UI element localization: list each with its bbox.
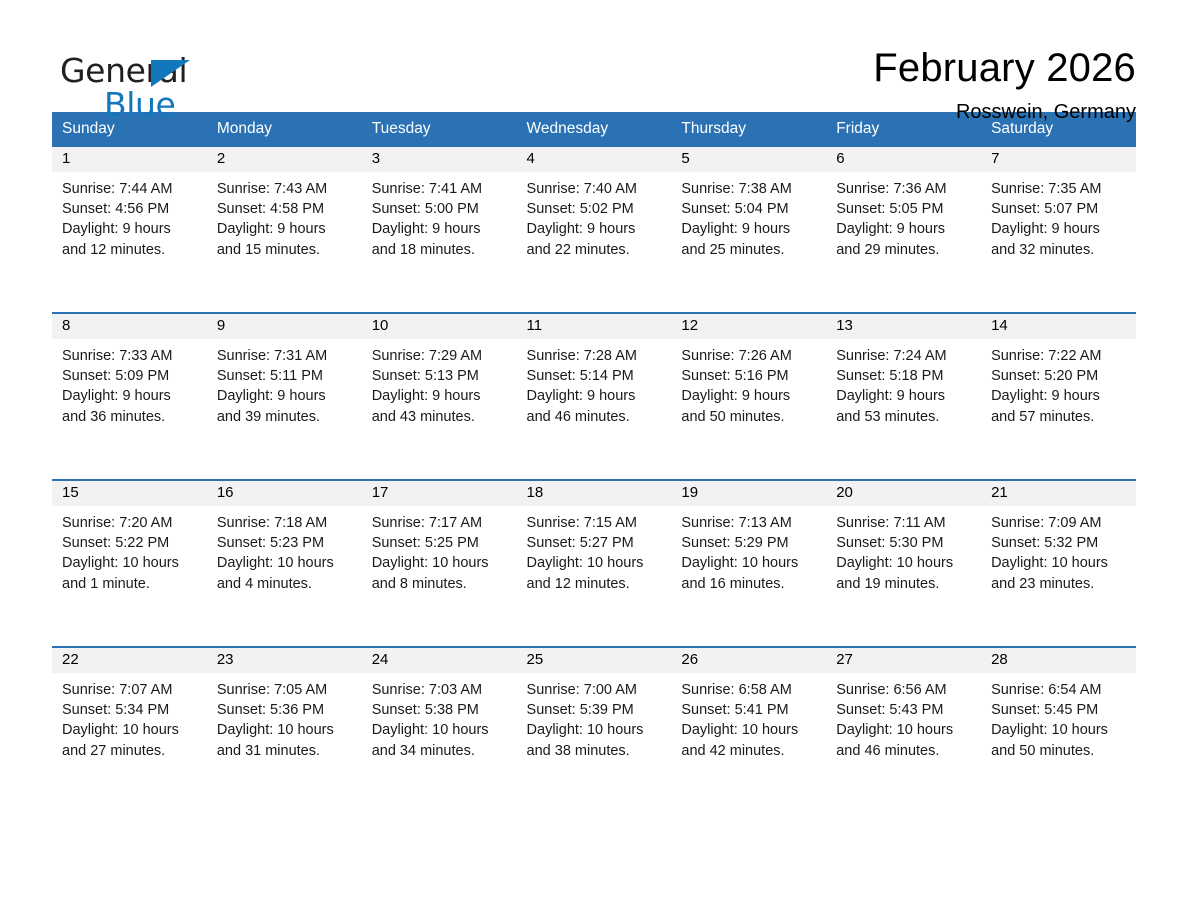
day-number: 4 bbox=[527, 150, 535, 167]
daylight-text-line1: Daylight: 9 hours bbox=[836, 219, 969, 239]
sunrise-text: Sunrise: 7:44 AM bbox=[62, 179, 195, 199]
daylight-text-line2: and 16 minutes. bbox=[681, 574, 814, 594]
page-title: February 2026 bbox=[873, 46, 1136, 91]
daylight-text-line2: and 50 minutes. bbox=[991, 741, 1124, 761]
sunrise-text: Sunrise: 7:29 AM bbox=[372, 346, 505, 366]
day-number: 14 bbox=[991, 317, 1008, 334]
daylight-text-line2: and 8 minutes. bbox=[372, 574, 505, 594]
sunset-text: Sunset: 5:43 PM bbox=[836, 700, 969, 720]
sunrise-text: Sunrise: 7:13 AM bbox=[681, 513, 814, 533]
day-cell[interactable]: 3Sunrise: 7:41 AMSunset: 5:00 PMDaylight… bbox=[362, 147, 517, 313]
daylight-text-line1: Daylight: 9 hours bbox=[372, 219, 505, 239]
day-cell[interactable]: 8Sunrise: 7:33 AMSunset: 5:09 PMDaylight… bbox=[52, 313, 207, 480]
day-number: 5 bbox=[681, 150, 689, 167]
day-cell[interactable]: 15Sunrise: 7:20 AMSunset: 5:22 PMDayligh… bbox=[52, 480, 207, 647]
sunset-text: Sunset: 5:30 PM bbox=[836, 533, 969, 553]
day-number: 6 bbox=[836, 150, 844, 167]
sunrise-text: Sunrise: 6:58 AM bbox=[681, 680, 814, 700]
sunset-text: Sunset: 5:02 PM bbox=[527, 199, 660, 219]
sunrise-text: Sunrise: 7:17 AM bbox=[372, 513, 505, 533]
daylight-text-line2: and 46 minutes. bbox=[527, 407, 660, 427]
sunset-text: Sunset: 5:34 PM bbox=[62, 700, 195, 720]
daylight-text-line2: and 34 minutes. bbox=[372, 741, 505, 761]
day-cell[interactable]: 6Sunrise: 7:36 AMSunset: 5:05 PMDaylight… bbox=[826, 147, 981, 313]
day-number: 27 bbox=[836, 651, 853, 668]
day-number: 11 bbox=[527, 317, 543, 334]
daylight-text-line1: Daylight: 10 hours bbox=[836, 720, 969, 740]
sunset-text: Sunset: 5:36 PM bbox=[217, 700, 350, 720]
sunset-text: Sunset: 5:25 PM bbox=[372, 533, 505, 553]
daylight-text-line2: and 25 minutes. bbox=[681, 240, 814, 260]
daylight-text-line1: Daylight: 10 hours bbox=[527, 720, 660, 740]
day-cell[interactable]: 7Sunrise: 7:35 AMSunset: 5:07 PMDaylight… bbox=[981, 147, 1136, 313]
calendar-body: 1Sunrise: 7:44 AMSunset: 4:56 PMDaylight… bbox=[52, 147, 1136, 813]
sunrise-text: Sunrise: 7:31 AM bbox=[217, 346, 350, 366]
day-cell[interactable]: 27Sunrise: 6:56 AMSunset: 5:43 PMDayligh… bbox=[826, 647, 981, 813]
daylight-text-line1: Daylight: 10 hours bbox=[217, 720, 350, 740]
sunrise-text: Sunrise: 7:43 AM bbox=[217, 179, 350, 199]
day-number: 16 bbox=[217, 484, 234, 501]
sunset-text: Sunset: 5:18 PM bbox=[836, 366, 969, 386]
weekday-header-thursday: Thursday bbox=[671, 112, 826, 147]
day-number: 22 bbox=[62, 651, 79, 668]
daylight-text-line2: and 50 minutes. bbox=[681, 407, 814, 427]
day-number: 17 bbox=[372, 484, 389, 501]
daylight-text-line2: and 38 minutes. bbox=[527, 741, 660, 761]
day-cell[interactable]: 20Sunrise: 7:11 AMSunset: 5:30 PMDayligh… bbox=[826, 480, 981, 647]
day-cell[interactable]: 26Sunrise: 6:58 AMSunset: 5:41 PMDayligh… bbox=[671, 647, 826, 813]
day-number: 9 bbox=[217, 317, 225, 334]
daylight-text-line1: Daylight: 9 hours bbox=[991, 386, 1124, 406]
sunrise-text: Sunrise: 7:00 AM bbox=[527, 680, 660, 700]
day-cell[interactable]: 13Sunrise: 7:24 AMSunset: 5:18 PMDayligh… bbox=[826, 313, 981, 480]
calendar-week-row: 15Sunrise: 7:20 AMSunset: 5:22 PMDayligh… bbox=[52, 480, 1136, 647]
daylight-text-line1: Daylight: 10 hours bbox=[836, 553, 969, 573]
sunrise-text: Sunrise: 7:36 AM bbox=[836, 179, 969, 199]
day-cell[interactable]: 17Sunrise: 7:17 AMSunset: 5:25 PMDayligh… bbox=[362, 480, 517, 647]
sunset-text: Sunset: 5:38 PM bbox=[372, 700, 505, 720]
weekday-header-tuesday: Tuesday bbox=[362, 112, 517, 147]
calendar-week-row: 8Sunrise: 7:33 AMSunset: 5:09 PMDaylight… bbox=[52, 313, 1136, 480]
daylight-text-line2: and 23 minutes. bbox=[991, 574, 1124, 594]
sunset-text: Sunset: 5:29 PM bbox=[681, 533, 814, 553]
sunset-text: Sunset: 5:45 PM bbox=[991, 700, 1124, 720]
day-number: 7 bbox=[991, 150, 999, 167]
sunrise-text: Sunrise: 7:35 AM bbox=[991, 179, 1124, 199]
daylight-text-line1: Daylight: 10 hours bbox=[372, 553, 505, 573]
daylight-text-line1: Daylight: 10 hours bbox=[372, 720, 505, 740]
day-number: 13 bbox=[836, 317, 853, 334]
day-number: 12 bbox=[681, 317, 698, 334]
daylight-text-line1: Daylight: 9 hours bbox=[681, 386, 814, 406]
daylight-text-line2: and 42 minutes. bbox=[681, 741, 814, 761]
daylight-text-line1: Daylight: 10 hours bbox=[62, 553, 195, 573]
sunset-text: Sunset: 5:20 PM bbox=[991, 366, 1124, 386]
daylight-text-line1: Daylight: 10 hours bbox=[681, 720, 814, 740]
daylight-text-line1: Daylight: 9 hours bbox=[991, 219, 1124, 239]
sunrise-text: Sunrise: 7:15 AM bbox=[527, 513, 660, 533]
sunrise-text: Sunrise: 7:26 AM bbox=[681, 346, 814, 366]
day-cell[interactable]: 16Sunrise: 7:18 AMSunset: 5:23 PMDayligh… bbox=[207, 480, 362, 647]
sunrise-sunset-calendar: Sunday Monday Tuesday Wednesday Thursday… bbox=[52, 112, 1136, 813]
weekday-header-wednesday: Wednesday bbox=[517, 112, 672, 147]
calendar-week-row: 1Sunrise: 7:44 AMSunset: 4:56 PMDaylight… bbox=[52, 147, 1136, 313]
sunrise-text: Sunrise: 7:40 AM bbox=[527, 179, 660, 199]
daylight-text-line1: Daylight: 10 hours bbox=[217, 553, 350, 573]
daylight-text-line2: and 12 minutes. bbox=[62, 240, 195, 260]
day-number: 24 bbox=[372, 651, 389, 668]
sunrise-text: Sunrise: 7:41 AM bbox=[372, 179, 505, 199]
daylight-text-line1: Daylight: 10 hours bbox=[62, 720, 195, 740]
day-cell[interactable]: 10Sunrise: 7:29 AMSunset: 5:13 PMDayligh… bbox=[362, 313, 517, 480]
day-number: 3 bbox=[372, 150, 380, 167]
daylight-text-line2: and 12 minutes. bbox=[527, 574, 660, 594]
daylight-text-line1: Daylight: 9 hours bbox=[62, 219, 195, 239]
daylight-text-line2: and 27 minutes. bbox=[62, 741, 195, 761]
day-cell[interactable]: 12Sunrise: 7:26 AMSunset: 5:16 PMDayligh… bbox=[671, 313, 826, 480]
general-blue-logo[interactable]: General Blue bbox=[52, 44, 252, 124]
daylight-text-line2: and 39 minutes. bbox=[217, 407, 350, 427]
sunset-text: Sunset: 5:23 PM bbox=[217, 533, 350, 553]
day-number: 10 bbox=[372, 317, 389, 334]
daylight-text-line2: and 57 minutes. bbox=[991, 407, 1124, 427]
daylight-text-line2: and 29 minutes. bbox=[836, 240, 969, 260]
daylight-text-line2: and 4 minutes. bbox=[217, 574, 350, 594]
sunset-text: Sunset: 5:39 PM bbox=[527, 700, 660, 720]
day-number: 23 bbox=[217, 651, 234, 668]
daylight-text-line2: and 1 minute. bbox=[62, 574, 195, 594]
day-number: 8 bbox=[62, 317, 70, 334]
daylight-text-line2: and 15 minutes. bbox=[217, 240, 350, 260]
day-cell[interactable]: 5Sunrise: 7:38 AMSunset: 5:04 PMDaylight… bbox=[671, 147, 826, 313]
sunrise-text: Sunrise: 7:11 AM bbox=[836, 513, 969, 533]
daylight-text-line1: Daylight: 9 hours bbox=[217, 386, 350, 406]
title-block: February 2026 Rosswein, Germany bbox=[873, 44, 1136, 123]
sunset-text: Sunset: 5:32 PM bbox=[991, 533, 1124, 553]
daylight-text-line1: Daylight: 10 hours bbox=[991, 553, 1124, 573]
day-cell[interactable]: 19Sunrise: 7:13 AMSunset: 5:29 PMDayligh… bbox=[671, 480, 826, 647]
daylight-text-line2: and 19 minutes. bbox=[836, 574, 969, 594]
daylight-text-line2: and 36 minutes. bbox=[62, 407, 195, 427]
daylight-text-line2: and 18 minutes. bbox=[372, 240, 505, 260]
day-cell[interactable]: 28Sunrise: 6:54 AMSunset: 5:45 PMDayligh… bbox=[981, 647, 1136, 813]
day-number: 26 bbox=[681, 651, 698, 668]
sunset-text: Sunset: 4:58 PM bbox=[217, 199, 350, 219]
daylight-text-line1: Daylight: 9 hours bbox=[372, 386, 505, 406]
sunset-text: Sunset: 5:09 PM bbox=[62, 366, 195, 386]
sunset-text: Sunset: 5:04 PM bbox=[681, 199, 814, 219]
logo-word-blue: Blue bbox=[104, 88, 175, 121]
sunset-text: Sunset: 5:41 PM bbox=[681, 700, 814, 720]
daylight-text-line2: and 43 minutes. bbox=[372, 407, 505, 427]
day-cell[interactable]: 22Sunrise: 7:07 AMSunset: 5:34 PMDayligh… bbox=[52, 647, 207, 813]
sunrise-text: Sunrise: 7:33 AM bbox=[62, 346, 195, 366]
sunrise-text: Sunrise: 7:22 AM bbox=[991, 346, 1124, 366]
sunrise-text: Sunrise: 6:54 AM bbox=[991, 680, 1124, 700]
sunrise-text: Sunrise: 7:28 AM bbox=[527, 346, 660, 366]
daylight-text-line2: and 53 minutes. bbox=[836, 407, 969, 427]
daylight-text-line1: Daylight: 9 hours bbox=[681, 219, 814, 239]
day-cell[interactable]: 9Sunrise: 7:31 AMSunset: 5:11 PMDaylight… bbox=[207, 313, 362, 480]
day-number: 19 bbox=[681, 484, 698, 501]
sunrise-text: Sunrise: 7:24 AM bbox=[836, 346, 969, 366]
sunrise-text: Sunrise: 7:03 AM bbox=[372, 680, 505, 700]
day-number: 20 bbox=[836, 484, 853, 501]
sunset-text: Sunset: 5:22 PM bbox=[62, 533, 195, 553]
daylight-text-line2: and 46 minutes. bbox=[836, 741, 969, 761]
daylight-text-line2: and 31 minutes. bbox=[217, 741, 350, 761]
triangle-icon bbox=[151, 60, 190, 87]
sunset-text: Sunset: 5:11 PM bbox=[217, 366, 350, 386]
sunset-text: Sunset: 4:56 PM bbox=[62, 199, 195, 219]
day-cell[interactable]: 25Sunrise: 7:00 AMSunset: 5:39 PMDayligh… bbox=[517, 647, 672, 813]
sunrise-text: Sunrise: 7:20 AM bbox=[62, 513, 195, 533]
daylight-text-line1: Daylight: 9 hours bbox=[527, 219, 660, 239]
day-cell[interactable]: 2Sunrise: 7:43 AMSunset: 4:58 PMDaylight… bbox=[207, 147, 362, 313]
day-cell[interactable]: 18Sunrise: 7:15 AMSunset: 5:27 PMDayligh… bbox=[517, 480, 672, 647]
day-number: 1 bbox=[62, 150, 70, 167]
daylight-text-line1: Daylight: 10 hours bbox=[527, 553, 660, 573]
calendar-page: General Blue February 2026 Rosswein, Ger… bbox=[0, 0, 1188, 918]
daylight-text-line1: Daylight: 9 hours bbox=[836, 386, 969, 406]
sunrise-text: Sunrise: 7:09 AM bbox=[991, 513, 1124, 533]
sunset-text: Sunset: 5:00 PM bbox=[372, 199, 505, 219]
day-number: 15 bbox=[62, 484, 79, 501]
day-number: 28 bbox=[991, 651, 1008, 668]
daylight-text-line1: Daylight: 9 hours bbox=[527, 386, 660, 406]
sunset-text: Sunset: 5:14 PM bbox=[527, 366, 660, 386]
page-header: General Blue February 2026 Rosswein, Ger… bbox=[52, 0, 1136, 112]
daylight-text-line1: Daylight: 10 hours bbox=[991, 720, 1124, 740]
sunset-text: Sunset: 5:07 PM bbox=[991, 199, 1124, 219]
daylight-text-line2: and 32 minutes. bbox=[991, 240, 1124, 260]
sunset-text: Sunset: 5:27 PM bbox=[527, 533, 660, 553]
day-number: 25 bbox=[527, 651, 544, 668]
day-number: 18 bbox=[527, 484, 544, 501]
day-cell[interactable]: 11Sunrise: 7:28 AMSunset: 5:14 PMDayligh… bbox=[517, 313, 672, 480]
day-cell[interactable]: 1Sunrise: 7:44 AMSunset: 4:56 PMDaylight… bbox=[52, 147, 207, 313]
calendar-week-row: 22Sunrise: 7:07 AMSunset: 5:34 PMDayligh… bbox=[52, 647, 1136, 813]
day-cell[interactable]: 21Sunrise: 7:09 AMSunset: 5:32 PMDayligh… bbox=[981, 480, 1136, 647]
daylight-text-line1: Daylight: 9 hours bbox=[62, 386, 195, 406]
day-cell[interactable]: 14Sunrise: 7:22 AMSunset: 5:20 PMDayligh… bbox=[981, 313, 1136, 480]
daylight-text-line2: and 22 minutes. bbox=[527, 240, 660, 260]
sunrise-text: Sunrise: 6:56 AM bbox=[836, 680, 969, 700]
daylight-text-line1: Daylight: 10 hours bbox=[681, 553, 814, 573]
day-number: 21 bbox=[991, 484, 1008, 501]
sunrise-text: Sunrise: 7:18 AM bbox=[217, 513, 350, 533]
sunset-text: Sunset: 5:13 PM bbox=[372, 366, 505, 386]
sunrise-text: Sunrise: 7:38 AM bbox=[681, 179, 814, 199]
sunrise-text: Sunrise: 7:05 AM bbox=[217, 680, 350, 700]
sunset-text: Sunset: 5:16 PM bbox=[681, 366, 814, 386]
day-cell[interactable]: 23Sunrise: 7:05 AMSunset: 5:36 PMDayligh… bbox=[207, 647, 362, 813]
day-cell[interactable]: 4Sunrise: 7:40 AMSunset: 5:02 PMDaylight… bbox=[517, 147, 672, 313]
day-cell[interactable]: 24Sunrise: 7:03 AMSunset: 5:38 PMDayligh… bbox=[362, 647, 517, 813]
sunrise-text: Sunrise: 7:07 AM bbox=[62, 680, 195, 700]
day-number: 2 bbox=[217, 150, 225, 167]
daylight-text-line1: Daylight: 9 hours bbox=[217, 219, 350, 239]
sunset-text: Sunset: 5:05 PM bbox=[836, 199, 969, 219]
